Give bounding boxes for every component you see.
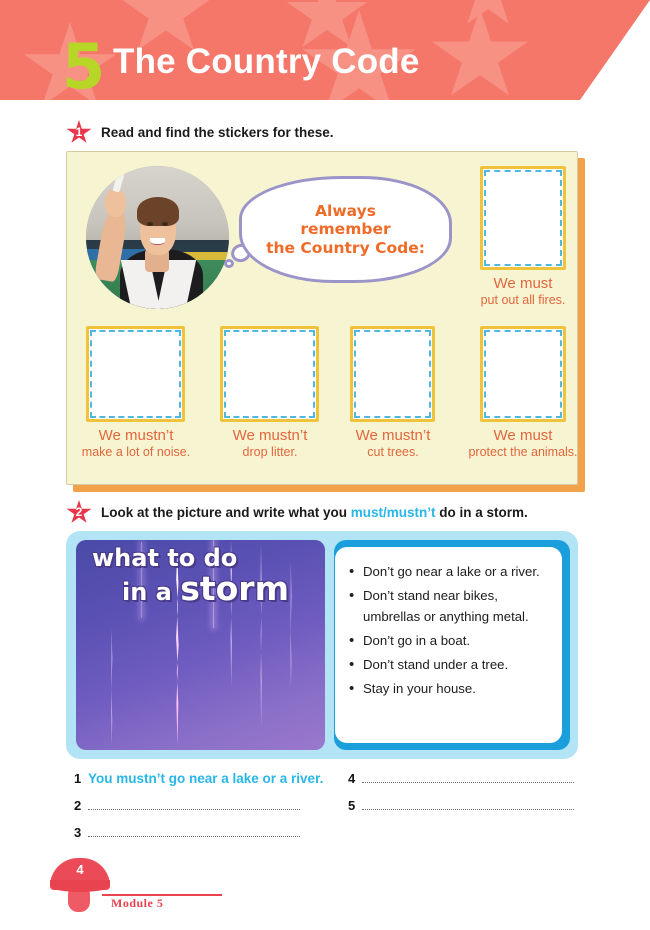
answer-number-3: 3 [74, 825, 88, 840]
sticker-slot-3[interactable] [220, 326, 319, 422]
speech-bubble-line-2: remember [300, 220, 390, 238]
bullet-icon: • [349, 585, 363, 606]
answer-number-5: 5 [348, 798, 362, 813]
rule-item: • Don’t stand near bikes, umbrellas or a… [349, 585, 552, 627]
storm-poster-title: what to do in a storm [76, 546, 325, 607]
lightning-bolt-icon [260, 544, 262, 729]
exercise-number-star-icon: 1 [66, 120, 92, 145]
storm-title-line-2-small: in a [122, 578, 180, 606]
sticker-caption-3: We mustn’t drop litter. [203, 428, 337, 459]
exercise-1-instruction: Read and find the stickers for these. [101, 125, 334, 140]
bullet-icon: • [349, 654, 363, 675]
answer-input-5[interactable] [362, 799, 574, 810]
photo-smile [150, 238, 164, 245]
speech-bubble: Always remember the Country Code: [239, 176, 452, 283]
bullet-icon: • [349, 678, 363, 699]
sticker-caption-2: We mustn’t make a lot of noise. [67, 428, 205, 459]
photo-hand [105, 189, 126, 218]
answer-row-5: 5 [348, 798, 574, 813]
teacher-photo [86, 166, 229, 309]
rule-text-line-1: Don’t stand near bikes, [363, 588, 498, 603]
storm-poster-image: what to do in a storm [76, 540, 325, 750]
rule-text: Stay in your house. [363, 678, 476, 699]
speech-bubble-tail-small [224, 259, 234, 268]
answer-row-3: 3 [74, 825, 300, 840]
instruction-part-2: do in a storm. [436, 505, 528, 520]
lightning-bolt-icon [111, 628, 113, 746]
storm-title-line-1: what to do [92, 546, 325, 571]
answer-input-2[interactable] [88, 799, 300, 810]
bullet-icon: • [349, 630, 363, 651]
rules-card: • Don’t go near a lake or a river. • Don… [335, 547, 562, 743]
exercise-1-header: 1 Read and find the stickers for these. [66, 120, 334, 145]
sticker-caption-5: We must protect the animals. [453, 428, 593, 459]
exercise-2-instruction: Look at the picture and write what you m… [101, 505, 528, 520]
answer-row-4: 4 [348, 771, 574, 786]
bullet-icon: • [349, 561, 363, 582]
exercise-2-number: 2 [76, 506, 83, 518]
exercise-1-number: 1 [76, 126, 83, 138]
photo-eye-right [162, 222, 168, 226]
rule-text: Don’t go in a boat. [363, 630, 470, 651]
answer-row-2: 2 [74, 798, 300, 813]
rule-item: • Stay in your house. [349, 678, 552, 699]
rule-item: • Don’t go near a lake or a river. [349, 561, 552, 582]
sticker-slot-4[interactable] [350, 326, 435, 422]
lightning-bolt-icon [213, 540, 215, 628]
sticker-caption-2-main: We mustn’t [67, 428, 205, 445]
rule-item: • Don’t stand under a tree. [349, 654, 552, 675]
lightning-bolt-icon [290, 561, 292, 687]
instruction-highlight: must/mustn’t [351, 505, 436, 520]
page-footer: 4 Module 5 [45, 858, 245, 918]
sticker-caption-4: We mustn’t cut trees. [329, 428, 457, 459]
lightning-bolt-icon [230, 540, 232, 687]
sticker-caption-5-main: We must [453, 428, 593, 445]
lightning-bolt-icon [141, 542, 143, 618]
instruction-part-1: Look at the picture and write what you [101, 505, 351, 520]
sticker-caption-3-main: We mustn’t [203, 428, 337, 445]
speech-bubble-line-3: the Country Code: [266, 239, 425, 257]
sticker-slot-5[interactable] [480, 326, 566, 422]
sticker-caption-4-sub: cut trees. [329, 445, 457, 459]
sticker-caption-5-sub: protect the animals. [453, 445, 593, 459]
speech-bubble-line-1: Always [315, 202, 376, 220]
rule-text: Don’t stand near bikes, umbrellas or any… [363, 585, 529, 627]
storm-title-line-2-big: storm [180, 569, 289, 608]
rule-text: Don’t stand under a tree. [363, 654, 508, 675]
page-header-banner: 5 The Country Code [0, 0, 650, 100]
answer-number-2: 2 [74, 798, 88, 813]
answer-row-1: 1 You mustn’t go near a lake or a river. [74, 771, 323, 786]
rule-text-line-2: umbrellas or anything metal. [363, 609, 529, 624]
answer-number-4: 4 [348, 771, 362, 786]
rule-text: Don’t go near a lake or a river. [363, 561, 540, 582]
rule-item: • Don’t go in a boat. [349, 630, 552, 651]
unit-number: 5 [62, 36, 103, 98]
sticker-slot-2[interactable] [86, 326, 185, 422]
sticker-caption-4-main: We mustn’t [329, 428, 457, 445]
lightning-bolt-main-icon [176, 553, 180, 746]
page-number: 4 [50, 862, 110, 877]
exercise-2-header: 2 Look at the picture and write what you… [66, 500, 528, 525]
sticker-caption-1: We must put out all fires. [460, 276, 586, 307]
answer-number-1: 1 [74, 771, 88, 786]
exercise-1-panel: Always remember the Country Code: We mus… [66, 151, 578, 485]
photo-hair [137, 197, 178, 226]
sticker-slot-1[interactable] [480, 166, 566, 270]
answer-input-3[interactable] [88, 826, 300, 837]
exercise-number-star-icon: 2 [66, 500, 92, 525]
sticker-caption-1-sub: put out all fires. [460, 293, 586, 307]
answer-value-1[interactable]: You mustn’t go near a lake or a river. [88, 771, 323, 786]
answer-input-4[interactable] [362, 772, 574, 783]
sticker-caption-2-sub: make a lot of noise. [67, 445, 205, 459]
exercise-2-frame: what to do in a storm • Don’t go near a … [66, 531, 578, 759]
sticker-caption-1-main: We must [460, 276, 586, 293]
sticker-caption-3-sub: drop litter. [203, 445, 337, 459]
page-title: The Country Code [113, 44, 420, 79]
module-label: Module 5 [111, 896, 163, 911]
storm-title-line-2: in a storm [122, 572, 325, 607]
mushroom-cap-underside-icon [50, 880, 110, 892]
